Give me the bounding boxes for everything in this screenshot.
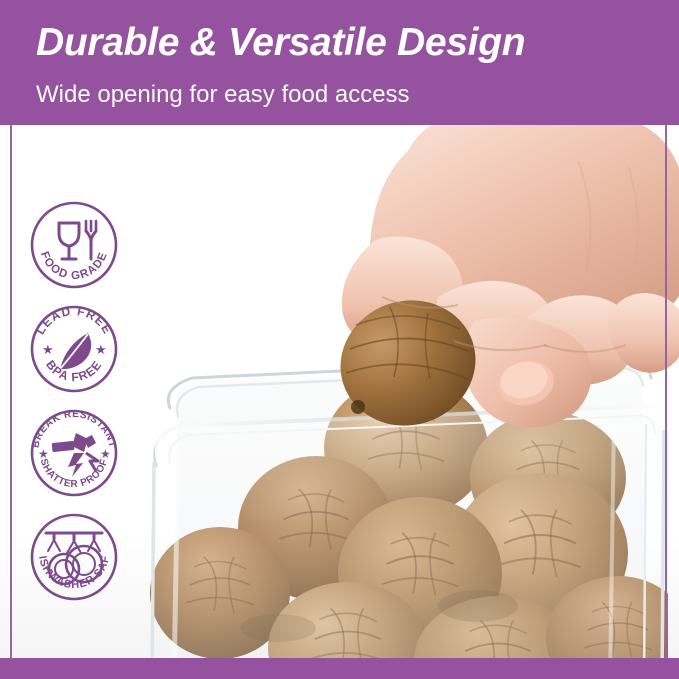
page-title: Durable & Versatile Design [36, 23, 525, 64]
badge-star-left: ★ [42, 342, 54, 357]
badge-break-resistant: ★ ★ BREAK RESISTANT SHATTER PROOF [26, 405, 122, 501]
badge-star-right: ★ [95, 342, 107, 357]
product-feature-image: Durable & Versatile Design Wide opening … [0, 0, 679, 679]
svg-text:LEAD FREE: LEAD FREE [33, 304, 115, 337]
badge-dishwasher-safe: DISHWASHER SAFE [26, 509, 122, 605]
badge-lead-free-bpa-free: ★ ★ LEAD FREE BPA FREE [26, 301, 122, 397]
header-banner: Durable & Versatile Design Wide opening … [0, 0, 679, 125]
badge-lead-free-top-text: LEAD FREE [33, 304, 115, 337]
hand-holding-walnut [278, 125, 679, 451]
footer-banner [0, 658, 679, 679]
product-photo: FOOD GRADE ★ ★ [0, 125, 679, 679]
feature-badge-list: FOOD GRADE ★ ★ [26, 197, 126, 613]
left-frame-rule [10, 125, 12, 660]
right-frame-rule [665, 125, 667, 660]
page-subtitle: Wide opening for easy food access [36, 82, 410, 108]
badge-food-grade: FOOD GRADE [26, 197, 122, 293]
